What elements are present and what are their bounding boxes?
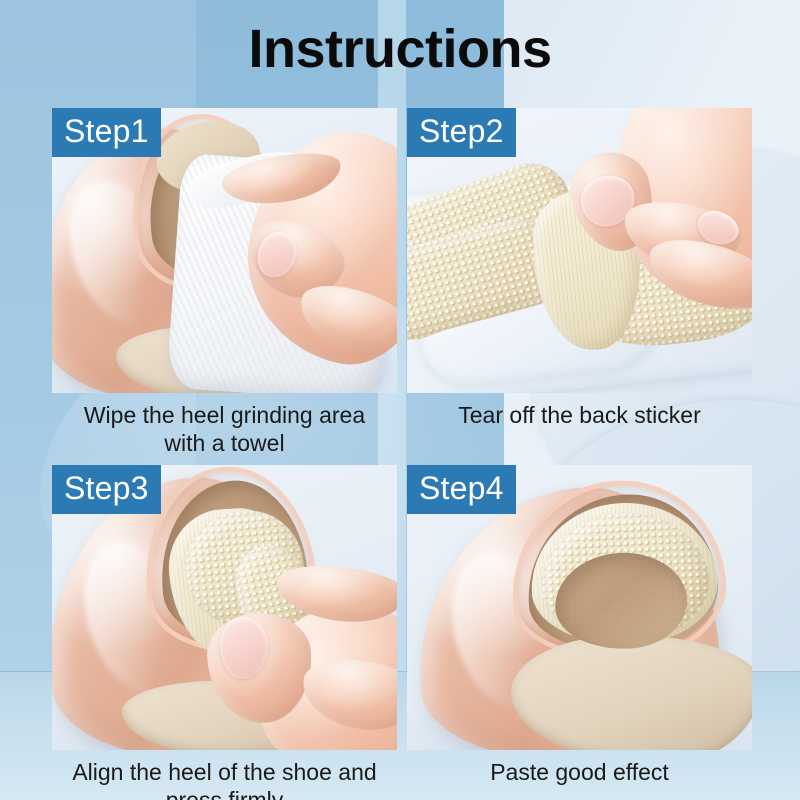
step-3-caption: Align the heel of the shoe and press fir… <box>52 750 397 800</box>
step-card-3: Step3 Align the heel of the shoe and pre… <box>52 465 397 800</box>
page-title: Instructions <box>0 21 800 78</box>
step-card-2: Step2 Tear off the back sticker <box>407 108 752 457</box>
step-1-photo: Step1 <box>52 108 397 393</box>
step-2-caption: Tear off the back sticker <box>407 393 752 429</box>
step-4-photo: Step4 <box>407 465 752 750</box>
shoe-insole <box>511 635 752 750</box>
step-card-4: Step4 Paste good effect <box>407 465 752 800</box>
steps-row-bottom: Step3 Align the heel of the shoe and pre… <box>52 465 752 800</box>
step-3-photo: Step3 <box>52 465 397 750</box>
step-4-badge: Step4 <box>407 465 516 514</box>
step-3-badge: Step3 <box>52 465 161 514</box>
steps-grid: Step1 Wipe the heel grinding area with a… <box>52 108 752 800</box>
step-1-badge: Step1 <box>52 108 161 157</box>
step-2-photo: Step2 <box>407 108 752 393</box>
step-4-caption: Paste good effect <box>407 750 752 786</box>
instructions-poster: Instructions <box>0 0 800 800</box>
steps-row-top: Step1 Wipe the heel grinding area with a… <box>52 108 752 457</box>
step-2-badge: Step2 <box>407 108 516 157</box>
step-1-caption: Wipe the heel grinding area with a towel <box>52 393 397 457</box>
step-card-1: Step1 Wipe the heel grinding area with a… <box>52 108 397 457</box>
